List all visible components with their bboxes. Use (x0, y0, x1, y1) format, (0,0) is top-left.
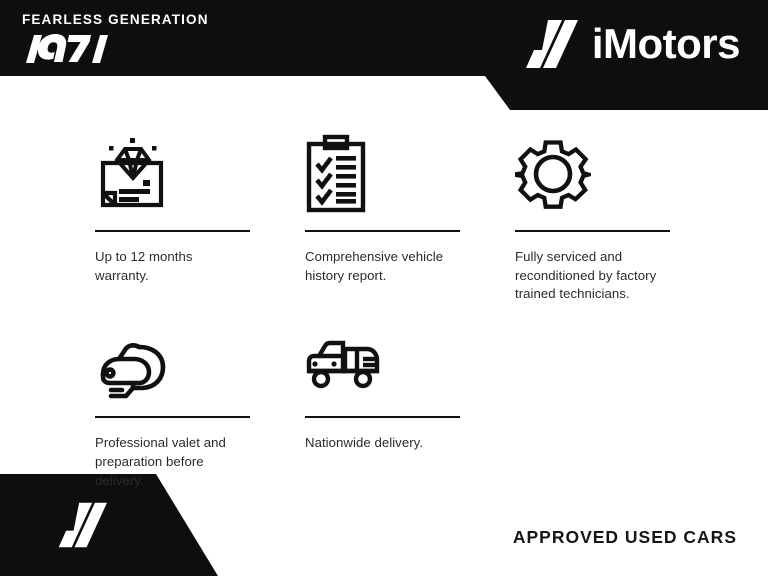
tagline-text: FEARLESS GENERATION (22, 13, 209, 27)
divider (95, 230, 250, 232)
feature-item-delivery: Nationwide delivery. (305, 326, 515, 490)
fearless-generation-block: FEARLESS GENERATION (22, 13, 209, 65)
feature-item-warranty: Up to 12 months warranty. (95, 128, 305, 304)
promo-banner: FEARLESS GENERATION (0, 0, 768, 576)
feature-caption: Fully serviced and reconditioned by fact… (515, 248, 665, 304)
feature-caption: Nationwide delivery. (305, 434, 455, 453)
imotors-chevron-mark-icon (522, 16, 578, 72)
car-transporter-truck-icon (305, 326, 460, 406)
divider (305, 416, 460, 418)
imotors-brand-block: iMotors (522, 16, 740, 72)
divider (95, 416, 250, 418)
clipboard-checklist-icon (305, 128, 460, 220)
feature-grid: Up to 12 months warranty. (95, 128, 715, 490)
1971-slanted-logotype-icon (22, 31, 112, 65)
feature-item-history-report: Comprehensive vehicle history report. (305, 128, 515, 304)
feature-caption: Up to 12 months warranty. (95, 248, 245, 285)
footer-imotors-chevron-mark-icon (55, 497, 107, 553)
divider (515, 230, 670, 232)
warranty-diamond-document-icon (95, 128, 250, 220)
feature-item-valet: Professional valet and preparation befor… (95, 326, 305, 490)
feature-item-serviced: Fully serviced and reconditioned by fact… (515, 128, 715, 304)
divider (305, 230, 460, 232)
approved-used-cars-text: APPROVED USED CARS (513, 527, 737, 548)
gear-icon (515, 128, 670, 220)
vacuum-cleaner-icon (95, 326, 250, 406)
feature-caption: Professional valet and preparation befor… (95, 434, 245, 490)
brand-name-text: iMotors (592, 23, 740, 65)
feature-caption: Comprehensive vehicle history report. (305, 248, 455, 285)
